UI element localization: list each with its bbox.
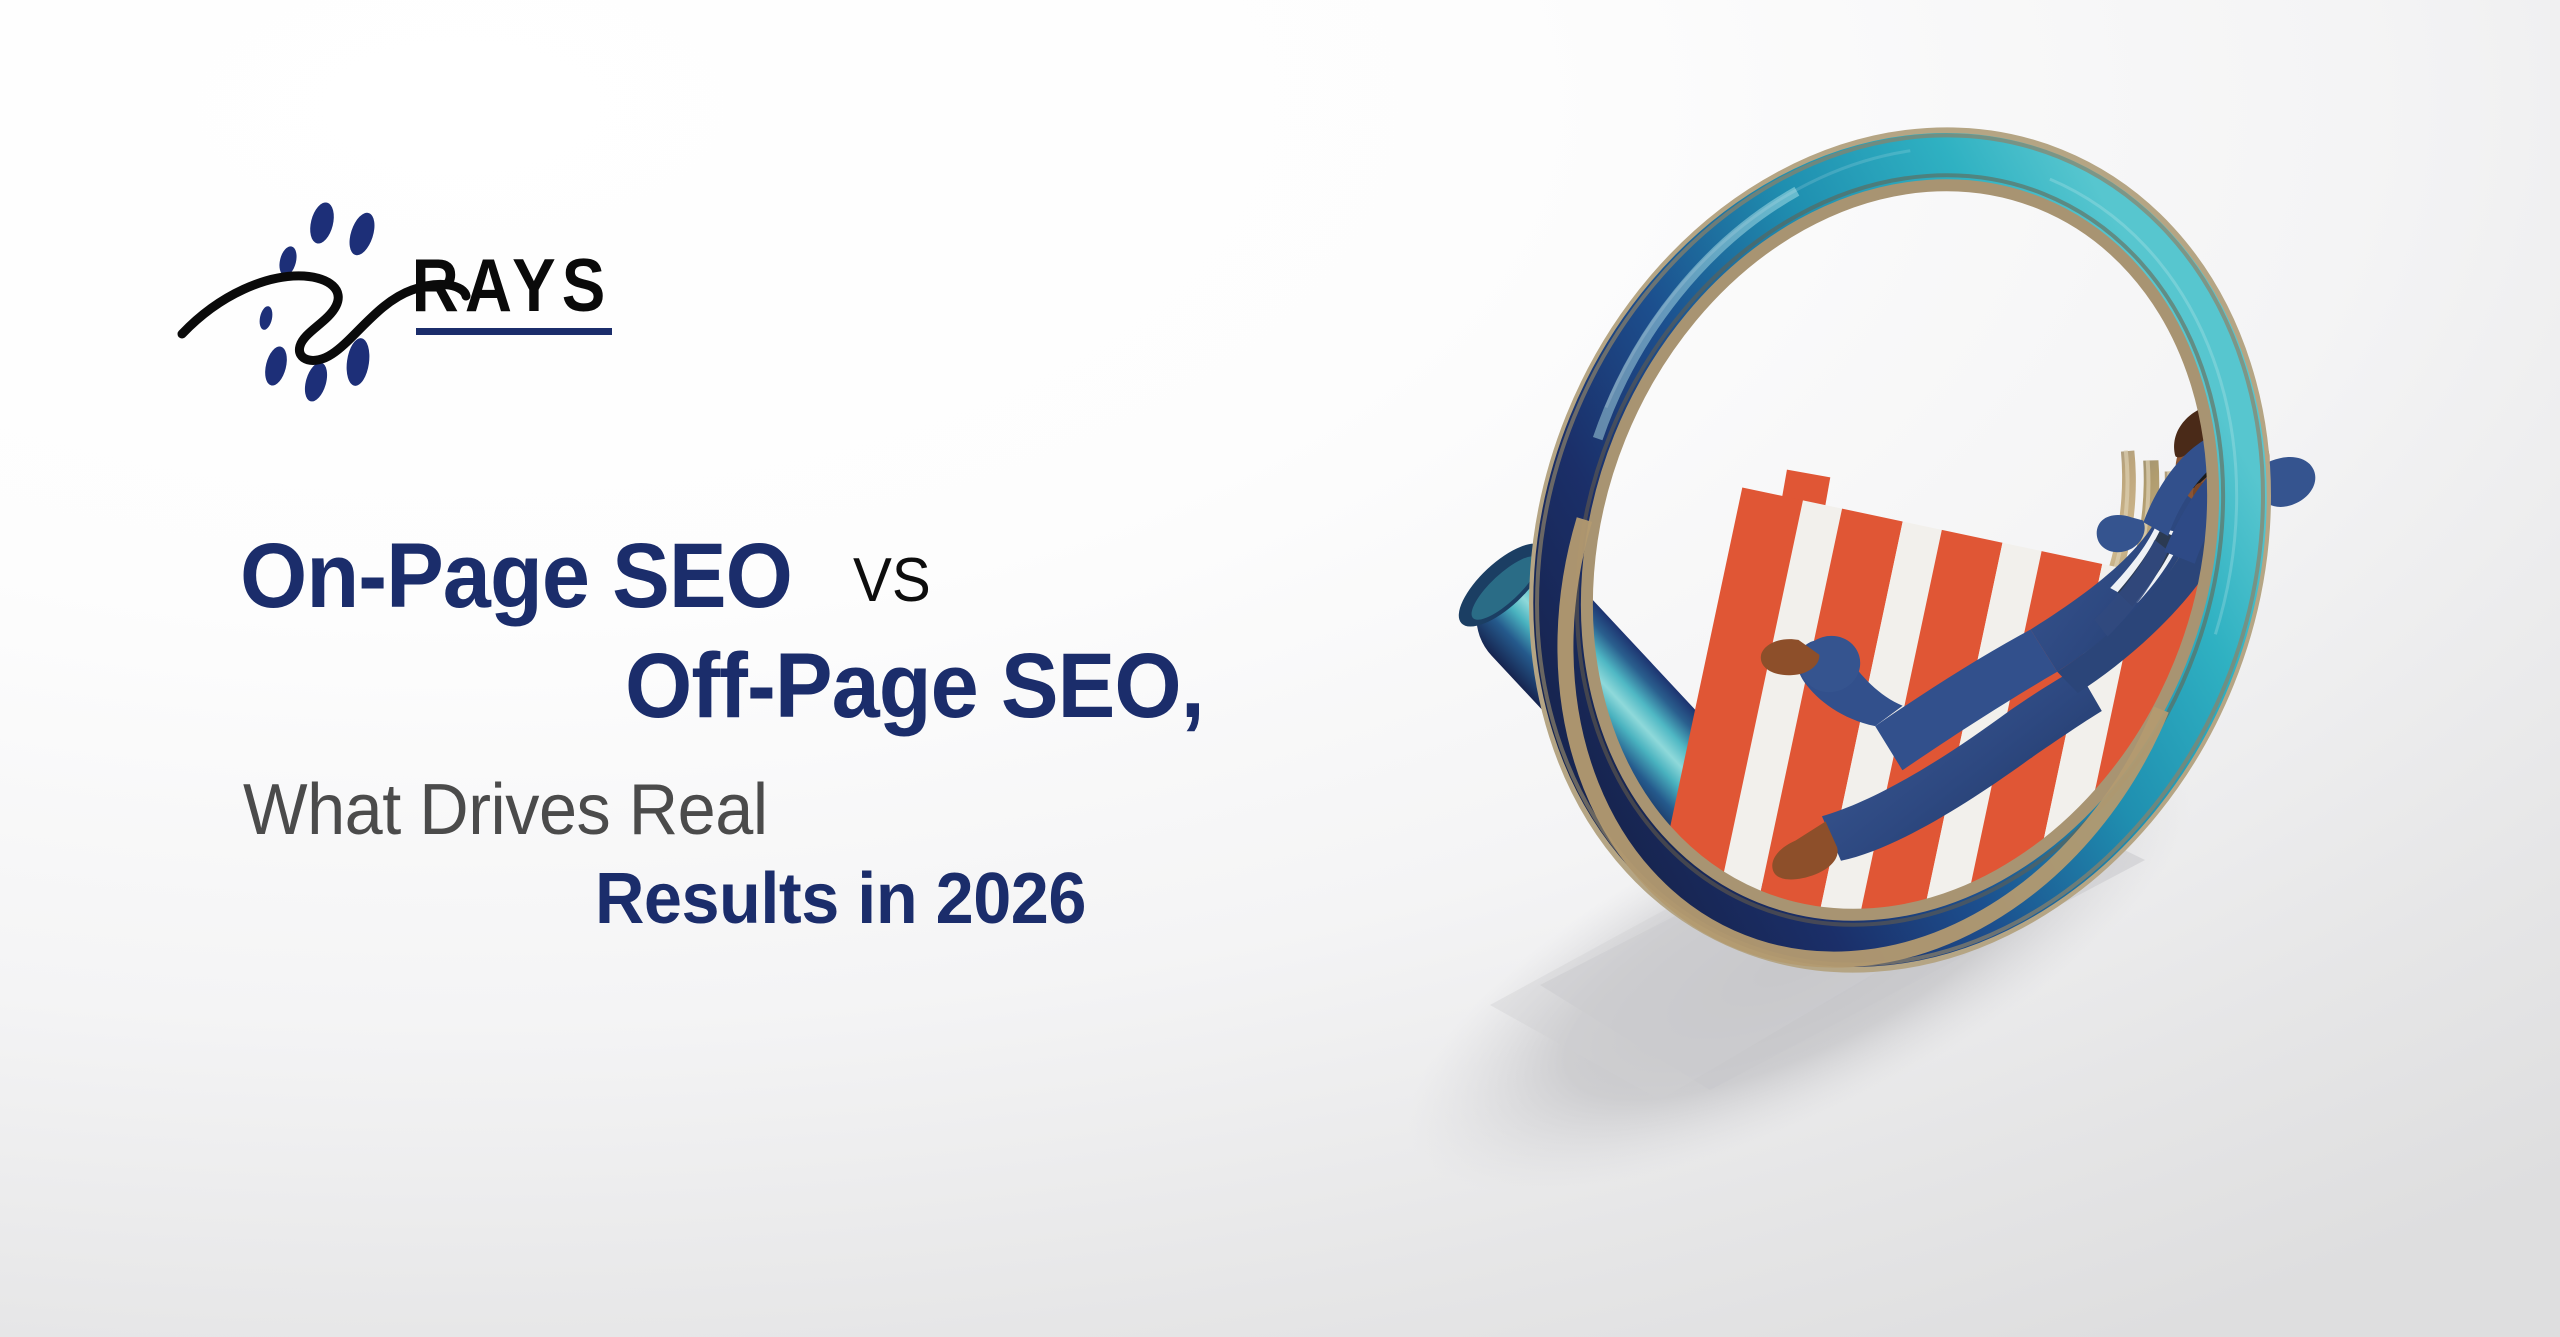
headline-line-4: Results in 2026 [240, 863, 1390, 936]
subhead-what-drives-real: What Drives Real [243, 774, 768, 847]
logo-droplets-icon [258, 200, 380, 404]
logo-underline [416, 328, 612, 335]
headline-offpage: Off-Page SEO, [625, 640, 1204, 734]
headline-vs: VS [853, 549, 931, 612]
headline-line-3: What Drives Real [240, 774, 1390, 847]
headline-onpage: On-Page SEO [240, 530, 792, 624]
seo-banner: RAYS On-Page SEOVS Off-Page SEO, What Dr… [0, 0, 2560, 1337]
subhead-results-in-2026: Results in 2026 [595, 863, 1086, 936]
magnifying-glass-illustration [1240, 80, 2560, 1260]
headline-block: On-Page SEOVS Off-Page SEO, What Drives … [240, 530, 1390, 937]
rays-logo[interactable]: RAYS [176, 186, 636, 386]
headline-line-1: On-Page SEOVS [240, 530, 1390, 624]
logo-wordmark: RAYS [412, 243, 612, 335]
logo-wordmark-text: RAYS [412, 243, 612, 328]
headline-line-2: Off-Page SEO, [240, 640, 1390, 734]
